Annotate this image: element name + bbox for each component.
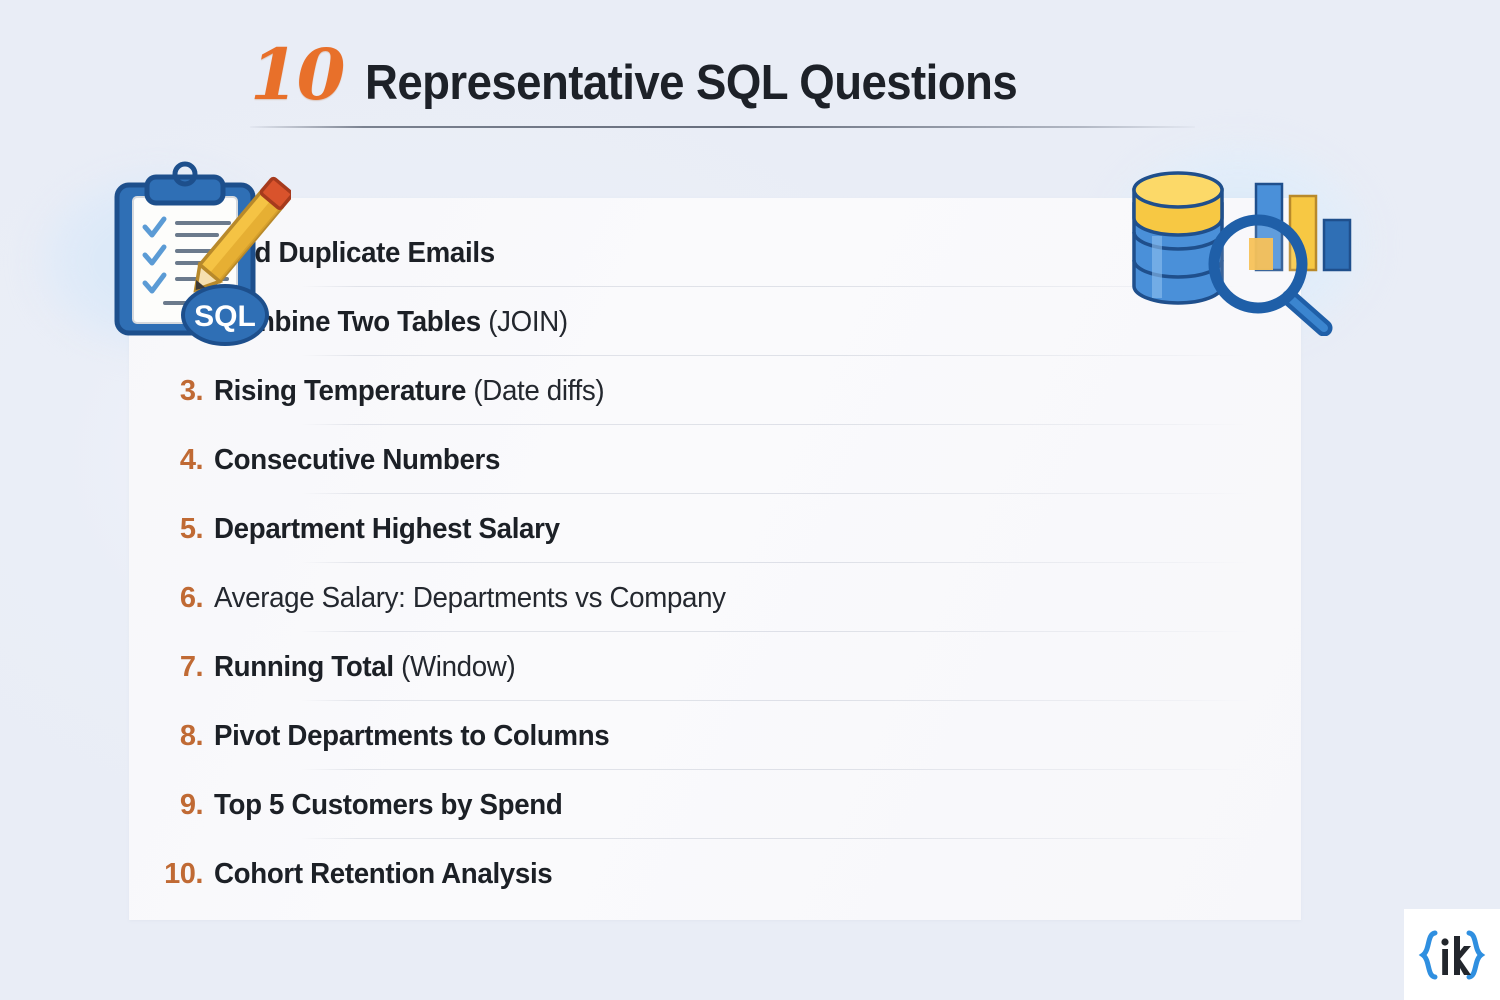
list-separator [301, 493, 1249, 494]
database-analytics-search-icon [1118, 160, 1362, 336]
list-item-number: 7. [129, 651, 214, 684]
list-item-number: 9. [129, 789, 214, 822]
clipboard-checklist-icon: SQL [95, 155, 291, 351]
list-item-label-main: Average Salary: Departments vs Company [214, 582, 726, 614]
list-separator [301, 355, 1249, 356]
list-item-label: Cohort Retention Analysis [214, 858, 552, 891]
list-separator [301, 286, 1249, 287]
list-item[interactable]: 4.Consecutive Numbers [129, 426, 1301, 494]
list-item[interactable]: 10.Cohort Retention Analysis [129, 840, 1301, 908]
list-item-label: Rising Temperature (Date diffs) [214, 375, 604, 408]
list-item-label: Consecutive Numbers [214, 444, 500, 477]
list-item-label-main: Rising Temperature [214, 375, 473, 407]
page-title: 10 Representative SQL Questions [250, 40, 1200, 132]
list-separator [301, 631, 1249, 632]
list-item-label-main: Consecutive Numbers [214, 444, 500, 476]
sql-badge-text: SQL [194, 300, 256, 333]
list-item[interactable]: 7.Running Total (Window) [129, 633, 1301, 701]
list-item[interactable]: 3.Rising Temperature (Date diffs) [129, 357, 1301, 425]
list-item-label-main: Pivot Departments to Columns [214, 720, 609, 752]
list-item-label-paren: (Date diffs) [473, 375, 604, 407]
list-item-number: 8. [129, 720, 214, 753]
list-item-label: Department Highest Salary [214, 513, 560, 546]
infographic-canvas: 10 Representative SQL Questions 1.Find D… [0, 0, 1500, 1000]
list-item-label-main: Department Highest Salary [214, 513, 560, 545]
list-separator [301, 769, 1249, 770]
list-item-number: 6. [129, 582, 214, 615]
list-item[interactable]: 6.Average Salary: Departments vs Company [129, 564, 1301, 632]
list-item-label: Running Total (Window) [214, 651, 515, 684]
title-text: Representative SQL Questions [365, 59, 1017, 108]
list-separator [301, 424, 1249, 425]
list-item-label-paren: (JOIN) [488, 306, 568, 338]
list-item-label: Pivot Departments to Columns [214, 720, 609, 753]
list-item-number: 10. [129, 858, 214, 891]
title-number: 10 [250, 40, 343, 110]
list-item-label-main: Top 5 Customers by Spend [214, 789, 562, 821]
list-item[interactable]: 9.Top 5 Customers by Spend [129, 771, 1301, 839]
list-item-label-paren: (Window) [401, 651, 515, 683]
list-item[interactable]: 8.Pivot Departments to Columns [129, 702, 1301, 770]
list-item-number: 4. [129, 444, 214, 477]
list-separator [301, 700, 1249, 701]
ik-brand-logo [1404, 909, 1500, 1000]
list-item-number: 5. [129, 513, 214, 546]
list-item-label: Top 5 Customers by Spend [214, 789, 562, 822]
list-item-number: 3. [129, 375, 214, 408]
list-separator [301, 838, 1249, 839]
list-item-label-main: Running Total [214, 651, 401, 683]
title-underline [250, 126, 1195, 128]
list-item-label-main: Cohort Retention Analysis [214, 858, 552, 890]
list-item-label: Average Salary: Departments vs Company [214, 582, 726, 615]
list-separator [301, 562, 1249, 563]
bar-3 [1324, 220, 1350, 270]
list-item[interactable]: 5.Department Highest Salary [129, 495, 1301, 563]
